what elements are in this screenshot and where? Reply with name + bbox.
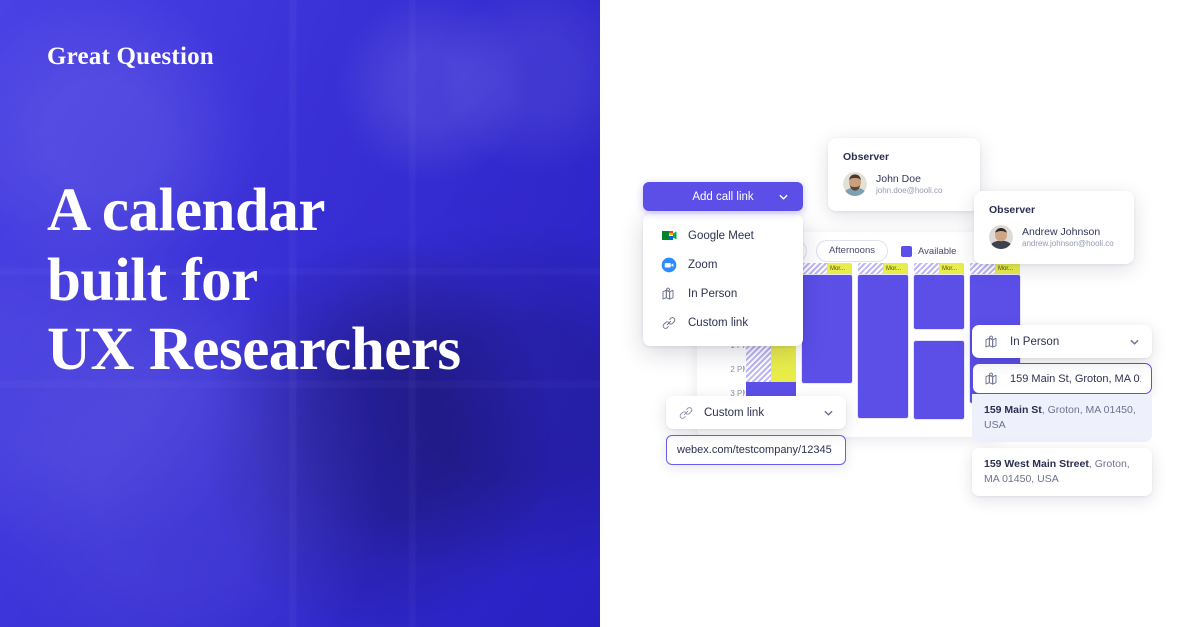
link-icon [677,404,694,421]
menu-item-label: Google Meet [688,230,754,242]
in-person-map-icon [983,370,1000,387]
observer-email: john.doe@hooli.co [876,186,942,197]
menu-item-google-meet[interactable]: Google Meet [643,221,803,250]
observer-identity: Andrew Johnson andrew.johnson@hooli.co [1022,225,1114,250]
brand-logo: Great Question [47,43,214,71]
address-suggestion-item[interactable]: 159 Main St, Groton, MA 01450, USA [972,394,1152,442]
tentative-hatch [746,341,771,382]
observer-identity: John Doe john.doe@hooli.co [876,172,942,197]
app-panel: gs Afternoons Available 1 PM 2 PM 3 PM [600,0,1200,627]
observer-email: andrew.johnson@hooli.co [1022,239,1114,250]
available-color-swatch [901,246,912,257]
conflict-block [771,341,796,382]
add-call-link-widget: Add call link Google Meet [643,182,803,346]
calendar-legend: Available [901,246,956,257]
observer-card-john-doe: Observer John Doe john.doe@hooli.co [828,138,980,211]
custom-link-type-select[interactable]: Custom link [666,396,846,429]
observer-name: Andrew Johnson [1022,225,1114,239]
headline-line-2: built for [47,246,567,316]
observer-card-title: Observer [989,204,1119,216]
legend-label-available: Available [918,246,956,257]
calendar-column: Mor... [857,262,909,437]
in-person-map-icon [660,285,677,302]
headline-line-1: A calendar [47,176,567,246]
address-suggestion-primary: 159 Main St [984,404,1042,416]
calendar-event-block[interactable] [913,340,965,420]
menu-item-in-person[interactable]: In Person [643,279,803,308]
calendar-event-block[interactable] [913,274,965,330]
chevron-down-icon [823,407,834,418]
location-type-label: In Person [1010,336,1059,348]
avatar-andrew-johnson [989,225,1013,249]
in-person-map-icon [983,333,1000,350]
add-call-link-menu: Google Meet Zoom [643,214,803,346]
observer-card-title: Observer [843,151,965,163]
hero-panel: Great Question A calendar built for UX R… [0,0,600,627]
time-label: 2 PM [707,358,749,382]
observer-name: John Doe [876,172,942,186]
menu-item-label: Custom link [688,317,748,329]
add-call-link-button[interactable]: Add call link [643,182,803,211]
chevron-down-icon [778,191,789,202]
custom-link-input-value: webex.com/testcompany/12345 [677,444,832,456]
filter-chip-afternoons[interactable]: Afternoons [816,240,888,262]
observer-card-andrew-johnson: Observer Andrew Johnson andrew.johnson@h… [974,191,1134,264]
add-call-link-label: Add call link [692,191,753,203]
location-type-select[interactable]: In Person [972,325,1152,358]
observer-person: Andrew Johnson andrew.johnson@hooli.co [989,225,1119,250]
zoom-icon [660,256,677,273]
headline-line-3: UX Researchers [47,315,567,385]
location-widget: In Person 159 Main St, Groton, MA 014 15… [972,325,1152,496]
menu-item-label: In Person [688,288,737,300]
location-address-input[interactable]: 159 Main St, Groton, MA 014 [972,363,1152,394]
calendar-event-block[interactable] [801,274,853,384]
menu-item-custom-link[interactable]: Custom link [643,308,803,337]
menu-item-zoom[interactable]: Zoom [643,250,803,279]
address-suggestion-item[interactable]: 159 West Main Street, Groton, MA 01450, … [972,448,1152,496]
custom-link-type-label: Custom link [704,407,764,419]
custom-link-widget: Custom link webex.com/testcompany/12345 [666,396,846,465]
chevron-down-icon [1129,336,1140,347]
location-address-value: 159 Main St, Groton, MA 014 [1010,373,1141,385]
link-icon [660,314,677,331]
google-meet-icon [660,227,677,244]
address-suggestion-list: 159 Main St, Groton, MA 01450, USA 159 W… [972,394,1152,496]
menu-item-label: Zoom [688,259,717,271]
observer-person: John Doe john.doe@hooli.co [843,172,965,197]
calendar-event-block[interactable] [857,274,909,419]
page-title: A calendar built for UX Researchers [47,176,567,385]
calendar-column: Mor... [913,262,965,437]
address-suggestion-primary: 159 West Main Street [984,458,1089,470]
avatar-john-doe [843,172,867,196]
custom-link-input[interactable]: webex.com/testcompany/12345 [666,435,846,465]
